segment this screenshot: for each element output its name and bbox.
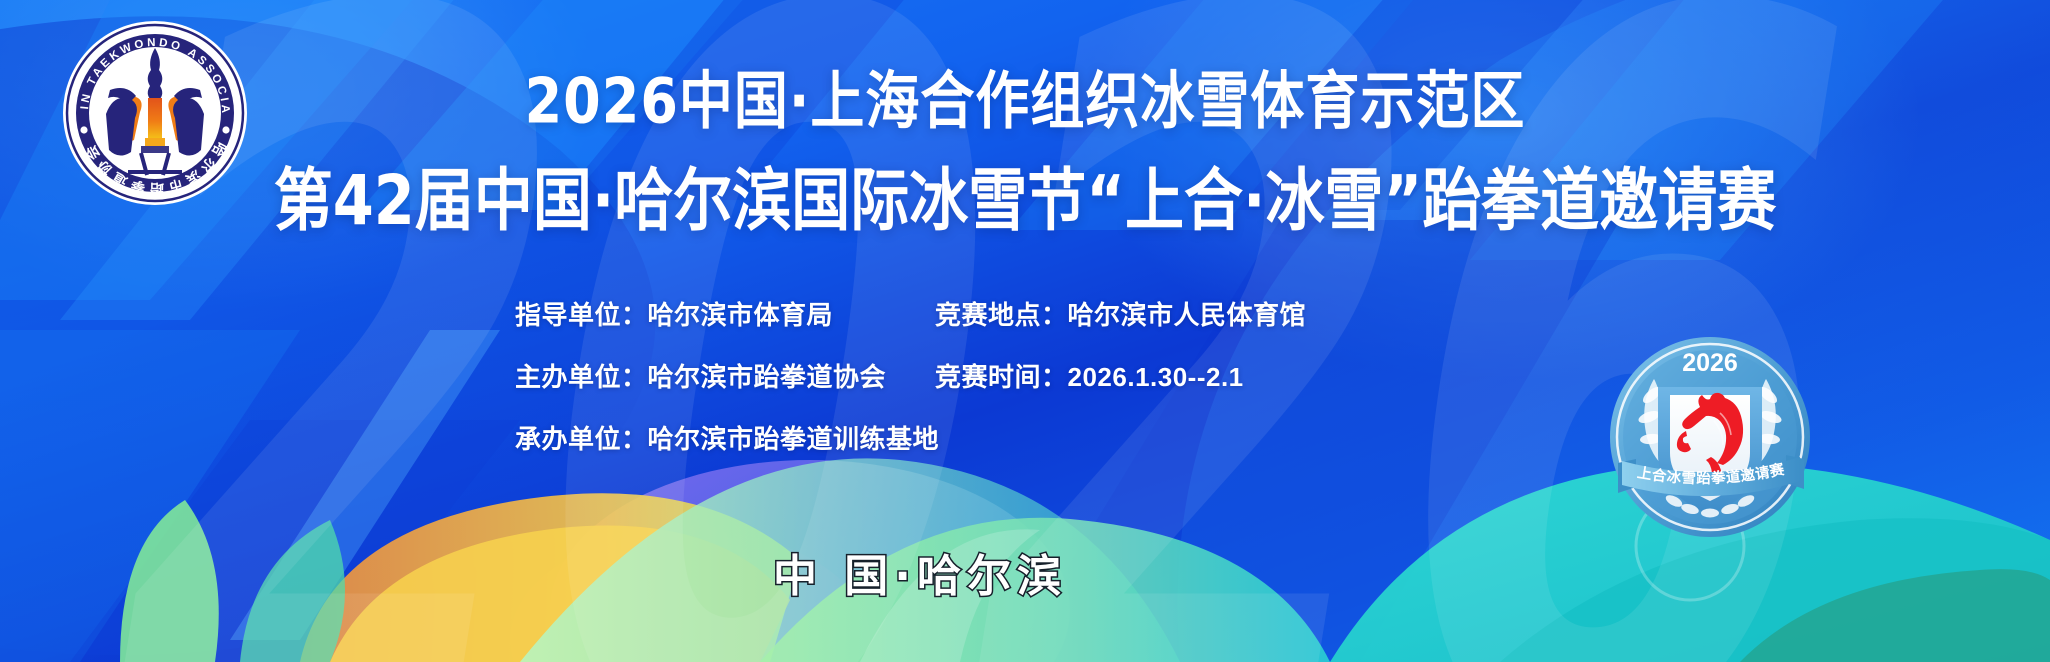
event-banner: 2026 <box>0 0 2050 662</box>
emblem-year: 2026 <box>1682 349 1738 377</box>
event-info-block: 指导单位：哈尔滨市体育局 竞赛地点：哈尔滨市人民体育馆 主办单位：哈尔滨市跆拳道… <box>515 295 1515 481</box>
main-title-line1: 2026中国·上海合作组织冰雪体育示范区 <box>0 68 2050 134</box>
info-organizer-undertaker: 承办单位：哈尔滨市跆拳道训练基地 <box>515 419 935 456</box>
main-title-line2: 第42届中国·哈尔滨国际冰雪节“上合·冰雪”跆拳道邀请赛 <box>0 165 2050 238</box>
info-row: 承办单位：哈尔滨市跆拳道训练基地 <box>515 419 1515 456</box>
info-label: 竞赛地点： <box>935 300 1068 330</box>
info-value: 哈尔滨市人民体育馆 <box>1068 300 1307 330</box>
info-value: 哈尔滨市跆拳道协会 <box>648 362 887 392</box>
horse-head-shield-medal-icon: 2026 <box>1608 335 1813 540</box>
info-venue: 竞赛地点：哈尔滨市人民体育馆 <box>935 295 1455 332</box>
info-organizer-host: 主办单位：哈尔滨市跆拳道协会 <box>515 357 935 394</box>
city-label: 中 国·哈尔滨 <box>640 540 1200 604</box>
info-label: 承办单位： <box>515 424 648 454</box>
info-value: 2026.1.30--2.1 <box>1068 362 1244 392</box>
info-empty-cell <box>935 419 1455 456</box>
info-label: 竞赛时间： <box>935 362 1068 392</box>
info-date: 竞赛时间：2026.1.30--2.1 <box>935 357 1455 394</box>
info-label: 主办单位： <box>515 362 648 392</box>
banner-titles: 2026中国·上海合作组织冰雪体育示范区 第42届中国·哈尔滨国际冰雪节“上合·… <box>0 68 2050 228</box>
info-row: 主办单位：哈尔滨市跆拳道协会 竞赛时间：2026.1.30--2.1 <box>515 357 1515 394</box>
info-value: 哈尔滨市跆拳道训练基地 <box>648 424 940 454</box>
info-row: 指导单位：哈尔滨市体育局 竞赛地点：哈尔滨市人民体育馆 <box>515 295 1515 332</box>
event-emblem: 2026 <box>1608 335 1813 540</box>
info-value: 哈尔滨市体育局 <box>648 300 834 330</box>
info-organizer-guidance: 指导单位：哈尔滨市体育局 <box>515 295 935 332</box>
info-label: 指导单位： <box>515 300 648 330</box>
